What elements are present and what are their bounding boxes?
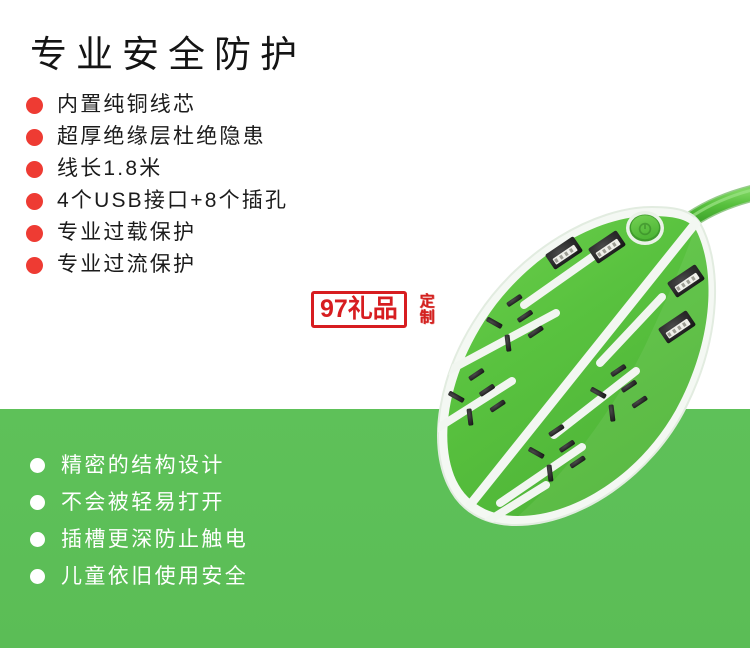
red-dot-bullet-icon xyxy=(26,193,43,210)
list-item: 专业过载保护 xyxy=(26,217,426,249)
list-item-label: 超厚绝缘层杜绝隐患 xyxy=(57,125,266,149)
power-switch-button[interactable] xyxy=(626,211,664,245)
list-item: 超厚绝缘层杜绝隐患 xyxy=(26,121,426,153)
white-dot-bullet-icon xyxy=(30,532,45,547)
list-item-label: 内置纯铜线芯 xyxy=(57,93,196,117)
white-dot-bullet-icon xyxy=(30,495,45,510)
product-image-leaf-power-strip xyxy=(404,185,750,555)
leaf-power-strip-illustration xyxy=(404,185,750,555)
white-dot-bullet-icon xyxy=(30,458,45,473)
list-item-label: 精密的结构设计 xyxy=(61,454,225,478)
red-dot-bullet-icon xyxy=(26,161,43,178)
power-cable xyxy=(692,188,750,219)
red-dot-bullet-icon xyxy=(26,225,43,242)
red-dot-bullet-icon xyxy=(26,129,43,146)
product-marketing-image: 专业安全防护 内置纯铜线芯 超厚绝缘层杜绝隐患 线长1.8米 4个USB接口+8… xyxy=(0,0,750,648)
list-item: 儿童依旧使用安全 xyxy=(30,558,430,595)
watermark-brand-label: 97礼品 xyxy=(311,291,407,328)
list-item: 不会被轻易打开 xyxy=(30,484,430,521)
top-feature-list: 内置纯铜线芯 超厚绝缘层杜绝隐患 线长1.8米 4个USB接口+8个插孔 专业过… xyxy=(26,89,426,281)
list-item-label: 专业过载保护 xyxy=(57,221,196,245)
list-item: 线长1.8米 xyxy=(26,153,426,185)
list-item: 内置纯铜线芯 xyxy=(26,89,426,121)
list-item-label: 不会被轻易打开 xyxy=(61,491,225,515)
list-item-label: 线长1.8米 xyxy=(57,157,162,181)
list-item: 插槽更深防止触电 xyxy=(30,521,430,558)
list-item-label: 插槽更深防止触电 xyxy=(61,528,248,552)
page-title: 专业安全防护 xyxy=(30,32,306,78)
red-dot-bullet-icon xyxy=(26,97,43,114)
list-item: 4个USB接口+8个插孔 xyxy=(26,185,426,217)
list-item: 精密的结构设计 xyxy=(30,447,430,484)
list-item-label: 4个USB接口+8个插孔 xyxy=(57,189,288,213)
list-item: 专业过流保护 xyxy=(26,249,426,281)
list-item-label: 专业过流保护 xyxy=(57,253,196,277)
bottom-feature-list: 精密的结构设计 不会被轻易打开 插槽更深防止触电 儿童依旧使用安全 xyxy=(30,447,430,595)
list-item-label: 儿童依旧使用安全 xyxy=(61,565,248,589)
red-dot-bullet-icon xyxy=(26,257,43,274)
white-dot-bullet-icon xyxy=(30,569,45,584)
